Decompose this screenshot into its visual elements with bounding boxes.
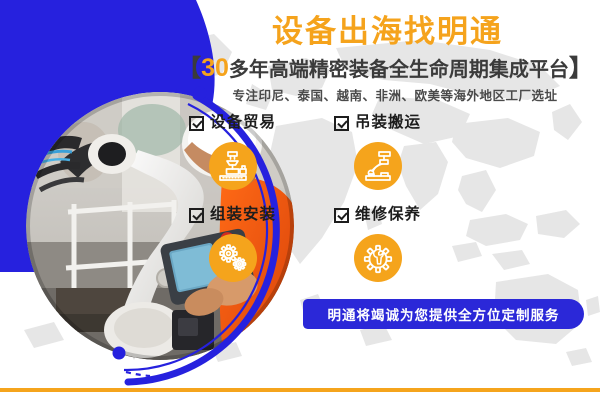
advertisement-banner: 设备出海找明通 【30多年高端精密装备全生命周期集成平台】 专注印尼、泰国、越南… xyxy=(0,0,600,400)
years-number: 30 xyxy=(201,54,229,82)
subtitle-text: 多年高端精密装备全生命周期集成平台 xyxy=(229,59,569,81)
checkbox-checked-icon xyxy=(334,208,349,223)
subtitle-line: 【30多年高端精密装备全生命周期集成平台】 xyxy=(170,55,600,83)
gear-wrench-icon xyxy=(354,234,402,282)
checkbox-checked-icon xyxy=(334,116,349,131)
feature-label: 维修保养 xyxy=(355,206,421,224)
service-feature-grid: 设备贸易 xyxy=(160,112,450,292)
gears-icon xyxy=(209,234,257,282)
feature-label: 设备贸易 xyxy=(210,114,276,132)
checkbox-checked-icon xyxy=(189,208,204,223)
bottom-accent-bar xyxy=(0,388,600,392)
feature-item-lifting-handling[interactable]: 吊装搬运 xyxy=(305,112,450,200)
checkbox-checked-icon xyxy=(189,116,204,131)
factory-conveyor-icon xyxy=(209,142,257,190)
feature-item-equipment-trade[interactable]: 设备贸易 xyxy=(160,112,305,200)
bracket-open: 【 xyxy=(177,55,201,82)
cta-banner[interactable]: 明通将竭诚为您提供全方位定制服务 xyxy=(303,299,584,329)
feature-item-assembly-installation[interactable]: 组装安装 xyxy=(160,204,305,292)
feature-row-1: 设备贸易 xyxy=(160,112,450,200)
feature-label: 吊装搬运 xyxy=(355,114,421,132)
crane-robot-arm-icon xyxy=(354,142,402,190)
cta-banner-text: 明通将竭诚为您提供全方位定制服务 xyxy=(328,304,560,324)
feature-item-maintenance-repair[interactable]: 维修保养 xyxy=(305,204,450,292)
feature-label: 组装安装 xyxy=(210,206,276,224)
page-title: 设备出海找明通 xyxy=(175,14,600,50)
tagline-text: 专注印尼、泰国、越南、非洲、欧美等海外地区工厂选址 xyxy=(190,88,600,104)
bracket-close: 】 xyxy=(569,55,593,82)
feature-row-2: 组装安装 xyxy=(160,204,450,292)
